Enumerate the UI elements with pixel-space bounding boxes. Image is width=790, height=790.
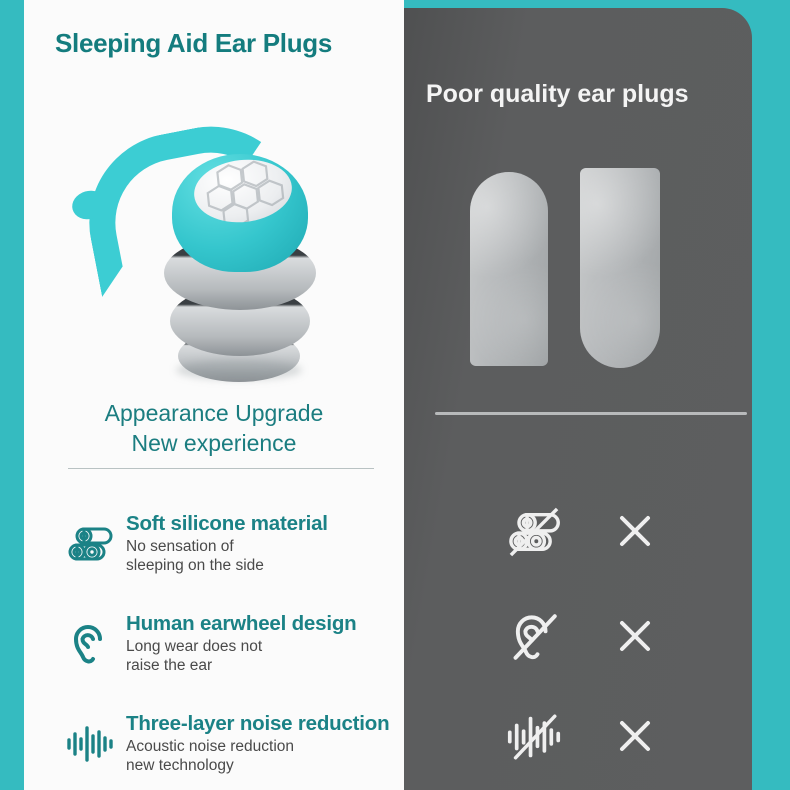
feature-item-noise-reduction: Three-layer noise reduction Acoustic noi… — [64, 712, 410, 790]
left-product-panel: Sleeping Aid Ear Plugs — [24, 0, 404, 790]
feature-description: Acoustic noise reduction new technology — [126, 737, 410, 775]
feature-description-line-1: No sensation of — [126, 537, 410, 556]
tagline-line-1: Appearance Upgrade — [24, 398, 404, 428]
page-title: Sleeping Aid Ear Plugs — [55, 28, 332, 59]
sound-wave-disabled-icon — [504, 707, 564, 767]
feature-text: Soft silicone material No sensation of s… — [126, 512, 410, 575]
feature-description-line-2: new technology — [126, 756, 410, 775]
right-comparison-panel: Poor quality ear plugs — [404, 8, 752, 790]
feature-title: Human earwheel design — [126, 612, 410, 636]
feature-title: Soft silicone material — [126, 512, 410, 536]
sound-wave-icon — [64, 718, 116, 770]
feature-text: Human earwheel design Long wear does not… — [126, 612, 410, 675]
ear-icon — [64, 618, 116, 670]
negative-row-ear — [404, 603, 752, 673]
comparison-divider — [435, 412, 747, 415]
hexagon-pattern-icon — [191, 155, 295, 227]
product-infographic: Sleeping Aid Ear Plugs — [0, 0, 790, 790]
silicone-tubes-disabled-icon — [504, 502, 564, 562]
feature-description-line-2: sleeping on the side — [126, 556, 410, 575]
feature-description-line-1: Acoustic noise reduction — [126, 737, 410, 756]
feature-description-line-2: raise the ear — [126, 656, 410, 675]
foam-earplug-right — [580, 168, 660, 368]
feature-item-soft-silicone: Soft silicone material No sensation of s… — [64, 512, 410, 604]
feature-item-earwheel-design: Human earwheel design Long wear does not… — [64, 612, 410, 704]
ear-disabled-icon — [504, 607, 564, 667]
tagline-divider — [68, 468, 374, 469]
feature-text: Three-layer noise reduction Acoustic noi… — [126, 712, 410, 775]
foam-earplug-left — [470, 172, 548, 366]
feature-description: Long wear does not raise the ear — [126, 637, 410, 675]
tagline: Appearance Upgrade New experience — [24, 398, 404, 458]
negative-row-noise — [404, 703, 752, 773]
silicone-tubes-icon — [64, 518, 116, 570]
tagline-line-2: New experience — [24, 428, 404, 458]
feature-title: Three-layer noise reduction — [126, 712, 410, 736]
cross-mark-icon — [610, 711, 660, 761]
cross-mark-icon — [610, 506, 660, 556]
cross-mark-icon — [610, 611, 660, 661]
earplug-hex-cap — [191, 155, 295, 227]
product-image-silicone-earplug — [64, 118, 364, 380]
feature-description-line-1: Long wear does not — [126, 637, 410, 656]
negative-row-silicone — [404, 498, 752, 568]
comparison-title: Poor quality ear plugs — [426, 80, 689, 109]
feature-description: No sensation of sleeping on the side — [126, 537, 410, 575]
product-shadow — [176, 360, 302, 380]
